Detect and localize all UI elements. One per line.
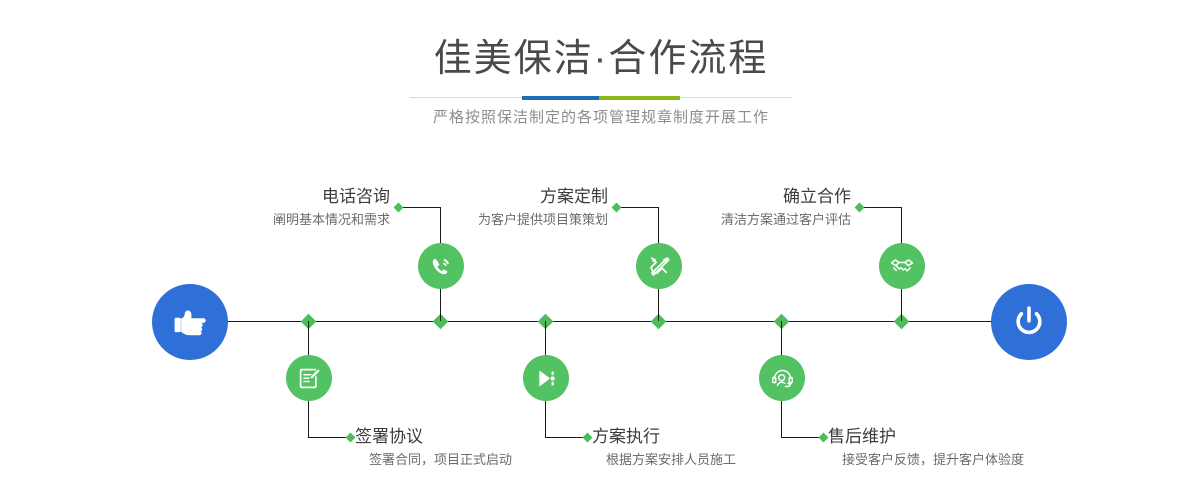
label-marker-step-3 [612,203,622,213]
step-subtitle-2: 签署合同，项目正式启动 [369,450,512,470]
step-title-3: 方案定制 [428,186,608,208]
label-marker-step-5 [855,203,865,213]
phone-consult-icon [427,252,455,280]
step-node-1[interactable] [418,243,464,289]
step-caption-2: 签署协议 签署合同，项目正式启动 [355,426,512,470]
step-subtitle-1: 阐明基本情况和需求 [215,210,390,230]
timeline-end-node [991,284,1067,360]
label-marker-step-2 [346,433,356,443]
step-caption-4: 方案执行 根据方案安排人员施工 [592,426,736,470]
step-node-6[interactable] [759,355,805,401]
timeline: 电话咨询 阐明基本情况和需求 签署协议 签署合同，项目正式启动 [0,0,1202,502]
step-node-3[interactable] [636,243,682,289]
flow-diagram-page: 佳美保洁·合作流程 严格按照保洁制定的各项管理规章制度开展工作 [0,0,1202,502]
step-title-1: 电话咨询 [215,186,390,208]
step-subtitle-3: 为客户提供项目策策划 [428,210,608,230]
pencil-ruler-icon [646,253,673,280]
label-marker-step-6 [819,433,829,443]
step-caption-3: 方案定制 为客户提供项目策策划 [428,186,608,230]
step-subtitle-4: 根据方案安排人员施工 [606,450,736,470]
label-marker-step-4 [583,433,593,443]
step-caption-5: 确立合作 清洁方案通过客户评估 [666,186,851,230]
play-execute-icon [533,365,560,392]
step-subtitle-6: 接受客户反馈，提升客户体验度 [842,450,1024,470]
step-title-4: 方案执行 [592,426,736,448]
connector-hline-step-6 [781,437,823,438]
step-node-2[interactable] [286,355,332,401]
connector-hline-step-3 [616,207,658,208]
step-subtitle-5: 清洁方案通过客户评估 [666,210,851,230]
sign-document-icon [296,365,323,392]
step-title-5: 确立合作 [666,186,851,208]
label-marker-step-1 [394,203,404,213]
step-node-5[interactable] [879,243,925,289]
power-icon [1008,301,1050,343]
step-caption-6: 售后维护 接受客户反馈，提升客户体验度 [828,426,1024,470]
step-title-6: 售后维护 [828,426,1024,448]
pointing-hand-icon [169,301,211,343]
timeline-start-node [152,284,228,360]
handshake-icon [888,252,916,280]
customer-service-add-icon [769,365,796,392]
step-caption-1: 电话咨询 阐明基本情况和需求 [215,186,390,230]
step-node-4[interactable] [523,355,569,401]
connector-hline-step-5 [859,207,901,208]
connector-hline-step-4 [545,437,587,438]
step-title-2: 签署协议 [355,426,512,448]
connector-hline-step-2 [308,437,350,438]
